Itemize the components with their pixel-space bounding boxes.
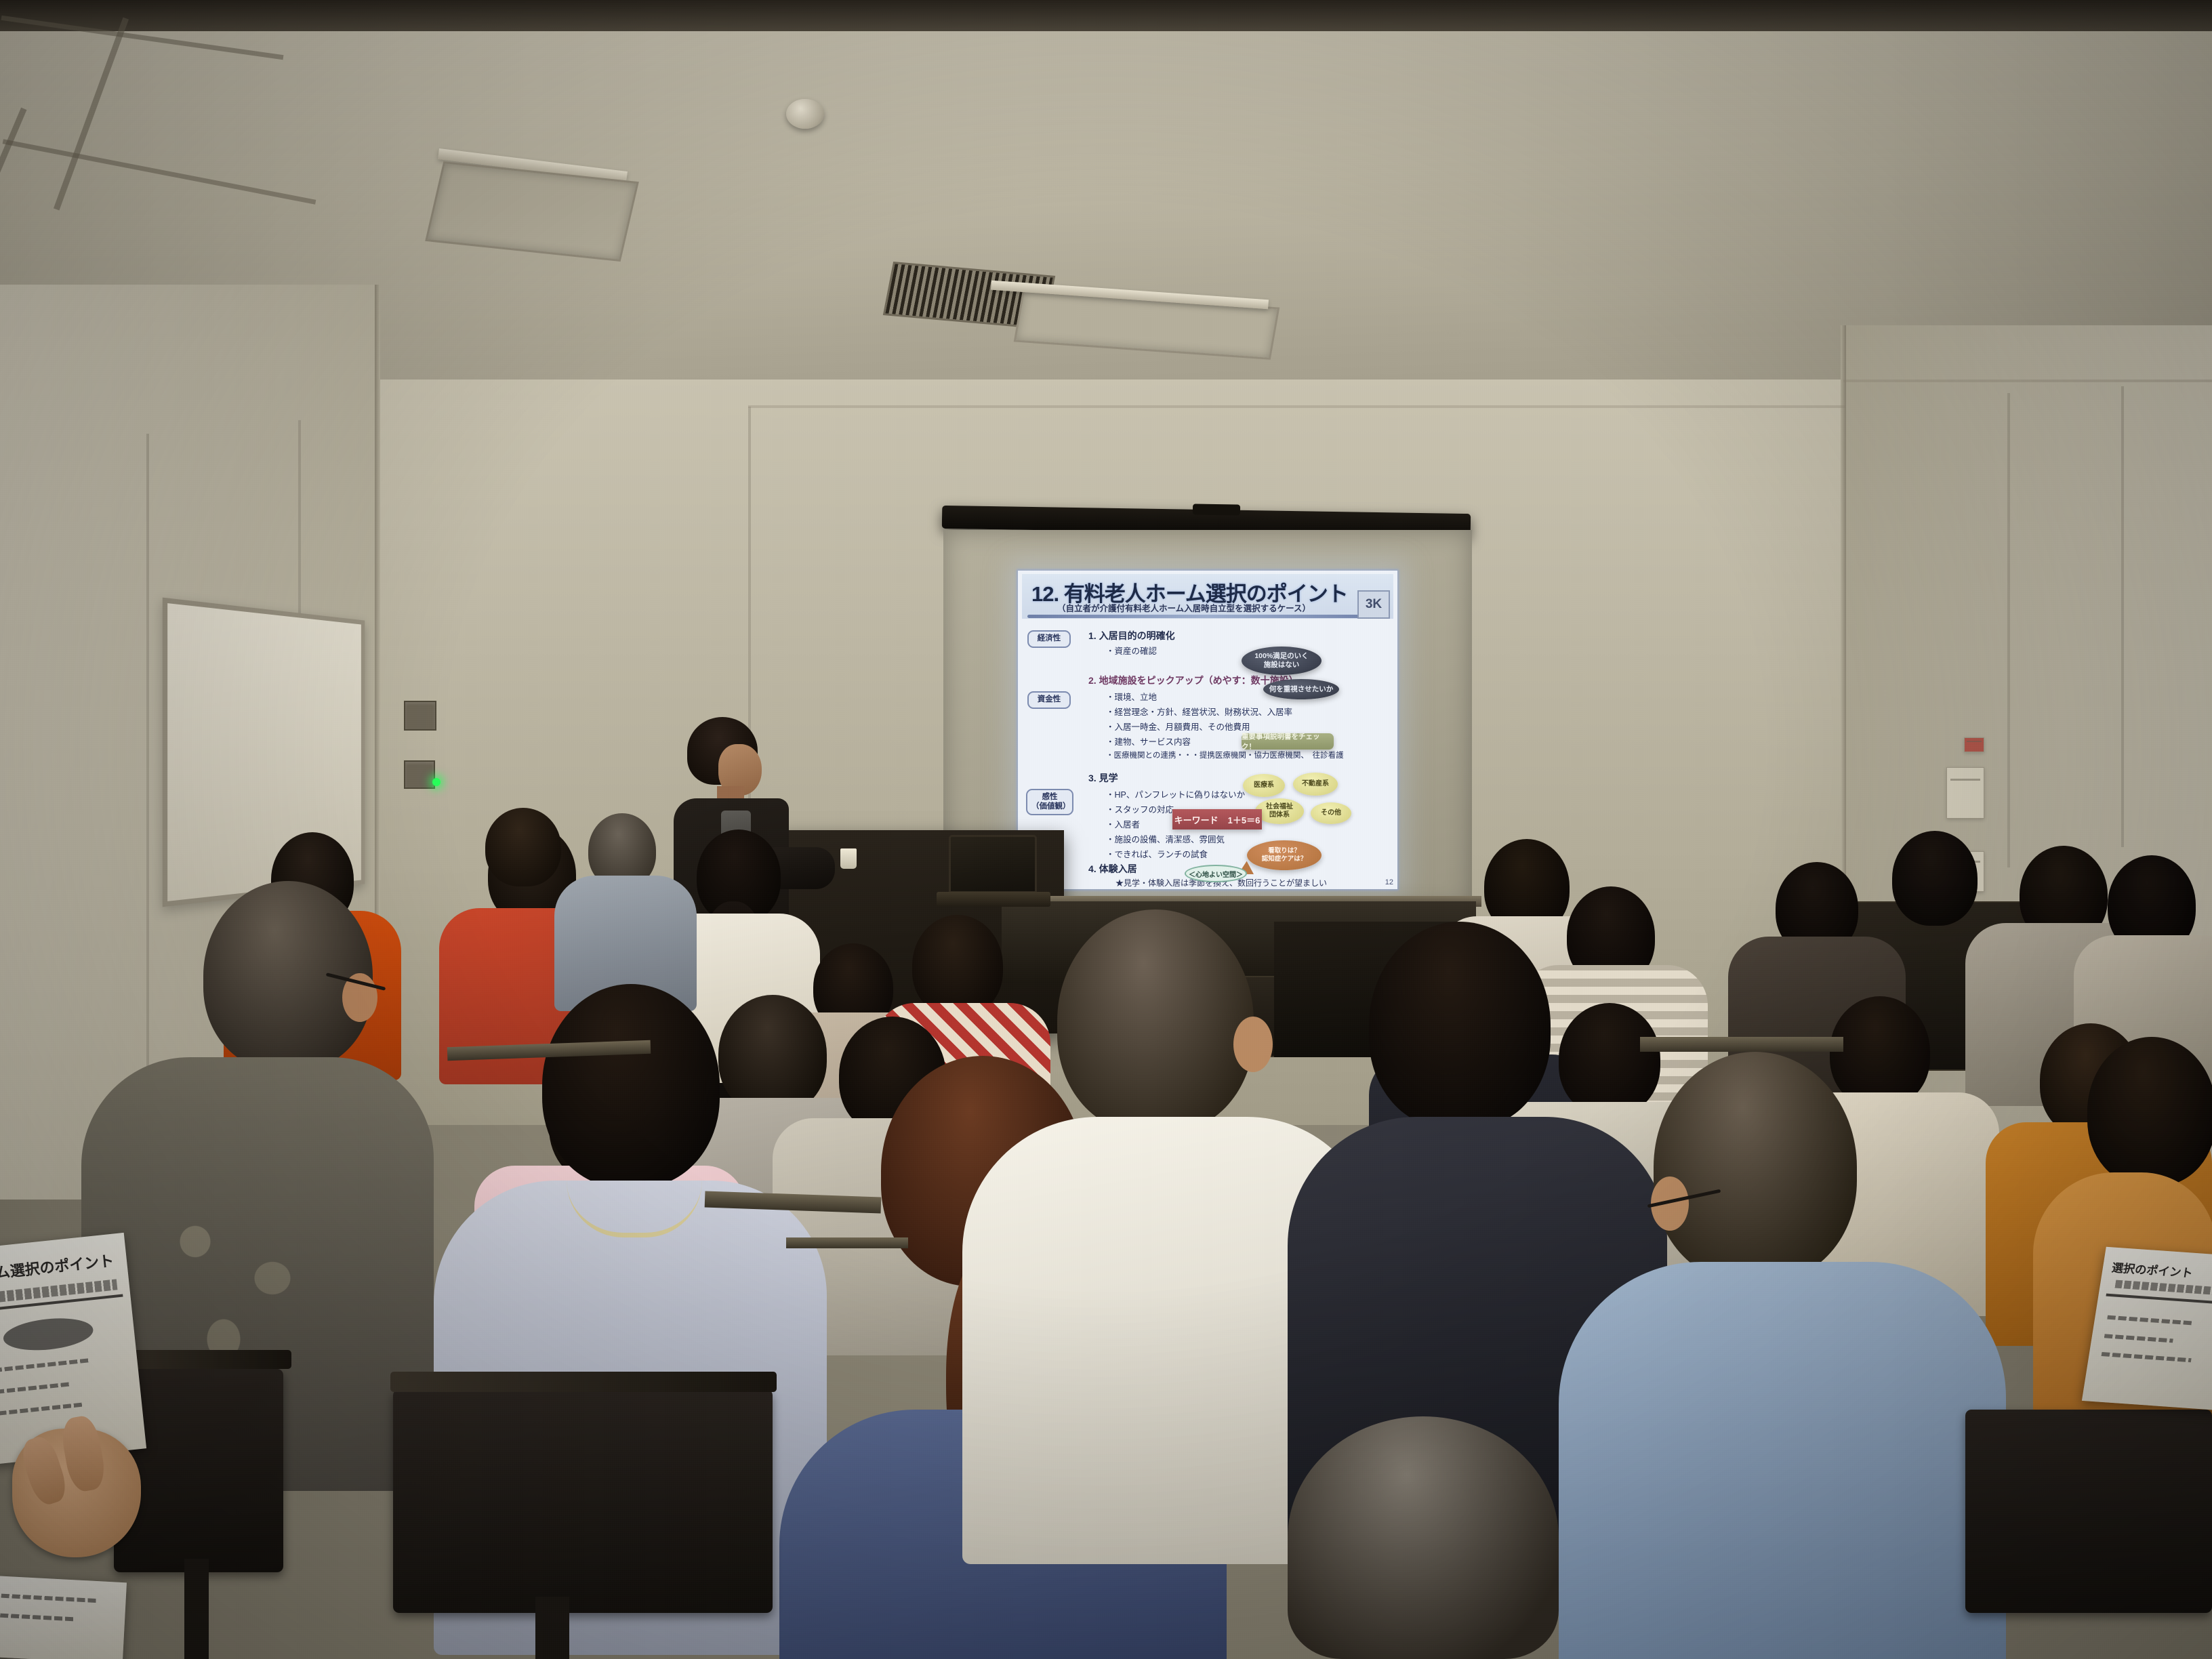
chair-backrest — [393, 1389, 773, 1613]
slide-side-label-sensibility: 感性（価値観） — [1026, 789, 1073, 815]
keyword-label: キーワード — [1174, 813, 1218, 826]
audience-head — [1559, 1003, 1660, 1115]
slide-callout-yellow-2: 不動産系 — [1293, 773, 1338, 796]
slide-subtitle: （自立者が介護付有料老人ホーム入居時自立型を選択するケース） — [1057, 601, 1311, 614]
audience-head — [485, 808, 561, 886]
slide-item-3-bullet: ・できれば、ランチの試食 — [1106, 847, 1208, 860]
slide-header: 12. 有料老人ホーム選択のポイント （自立者が介護付有料老人ホーム入居時自立型… — [1022, 574, 1393, 619]
wall-horizontal-seam — [748, 405, 1846, 408]
slide-callout-keyword-box: キーワード 1＋5＝6 — [1172, 809, 1262, 829]
audience-torso — [1559, 1262, 2006, 1659]
slide-page-number: 12 — [1385, 878, 1393, 886]
slide-item-3-bullet: ・入居者 — [1106, 817, 1140, 830]
wall-horizontal-seam — [1843, 380, 2212, 382]
slide-header-rule — [1027, 615, 1388, 618]
handout-paper[interactable] — [0, 1576, 127, 1659]
chair-armrest — [115, 1350, 291, 1369]
chair-post — [184, 1559, 209, 1659]
chair-backrest — [1965, 1410, 2212, 1613]
slide-item-4-heading: 4. 体験入居 — [1088, 862, 1137, 876]
handout-text-line — [1, 1594, 96, 1603]
smoke-detector-icon — [786, 99, 824, 129]
slide-item-3-bullet: ・施設の設備、清潔感、雰囲気 — [1106, 832, 1225, 845]
desk-edge — [786, 1237, 908, 1248]
audience-head — [718, 995, 827, 1114]
slide-item-3-bullet: ・HP、パンフレットに偽りはないか — [1106, 787, 1245, 800]
handout-rule — [2106, 1294, 2212, 1306]
audience-head — [542, 984, 720, 1187]
laptop-keyboard — [937, 892, 1050, 907]
slide-item-2-bullet: ・入居一時金、月額費用、その他費用 — [1106, 720, 1250, 733]
slide-item-3-bullet: ・スタッフの対応 — [1106, 802, 1174, 815]
audience-ear — [1233, 1017, 1273, 1072]
audience-head — [1288, 1416, 1559, 1659]
wall-panel-seam — [2121, 386, 2124, 847]
slide-callout-yellow-4: その他 — [1311, 802, 1351, 824]
slide-callout-yellow-3: 社会福祉団体系 — [1255, 798, 1304, 824]
handout-text-line — [0, 1382, 71, 1394]
slide-side-label-funding: 資金性 — [1027, 691, 1071, 709]
audience-head — [1892, 831, 1978, 926]
audience-head — [1369, 922, 1551, 1129]
slide-callout-dark-2: 何を重視させたいか — [1263, 679, 1339, 699]
slide-callout-dark-1: 100%満足のいく 施設はない — [1242, 647, 1322, 675]
handout-text-line — [2101, 1352, 2191, 1362]
slide-item-2-bullet: ・環境、立地 — [1106, 690, 1157, 703]
audience-head — [1654, 1052, 1857, 1282]
slide-logo-badge: 3K — [1357, 590, 1390, 619]
projection-screen-roller-knob — [1193, 504, 1240, 515]
audience-head — [203, 881, 373, 1071]
laptop-screen — [949, 835, 1037, 893]
slide-item-3-heading: 3. 見学 — [1088, 771, 1118, 785]
handout-text-line — [0, 1614, 73, 1622]
slide-callout-orange-bubble: 看取りは？ 認知症ケアは？ — [1247, 840, 1322, 870]
drinking-cup — [840, 848, 857, 869]
handout-text-line — [2104, 1334, 2173, 1343]
wall-panel-seam — [2007, 393, 2010, 867]
keyword-formula: 1＋5＝6 — [1228, 813, 1261, 826]
slide-callout-yellow-1: 医療系 — [1243, 774, 1285, 797]
wall-panel-seam — [146, 434, 149, 1111]
handout-graphic — [2, 1315, 95, 1354]
chair-armrest — [390, 1372, 777, 1392]
wall-control-panel — [404, 701, 436, 731]
wall-control-panel — [404, 760, 435, 789]
slide-item-2-bullet: ・経営理念・方針、経営状況、財務状況、入居率 — [1106, 705, 1292, 718]
chair-post — [535, 1597, 569, 1659]
handout-text-line — [0, 1358, 90, 1372]
audience-head — [2087, 1037, 2212, 1186]
handout-text-line — [2107, 1315, 2194, 1326]
slide-item-1-bullet: ・資産の確認 — [1106, 644, 1157, 657]
slide-callout-mint-ellipse: ＜心地よい空間＞ — [1185, 865, 1247, 882]
notice-poster — [1964, 737, 1984, 752]
ceiling-shadow-band — [0, 0, 2212, 31]
slide-item-1-heading: 1. 入居目的の明確化 — [1088, 629, 1175, 642]
seminar-room-photo: 12. 有料老人ホーム選択のポイント （自立者が介護付有料老人ホーム入居時自立型… — [0, 0, 2212, 1659]
audience-head — [1830, 996, 1930, 1107]
slide-item-2-bullet: ・建物、サービス内容 — [1106, 735, 1191, 747]
audience-head — [1057, 909, 1254, 1133]
desk-edge — [1640, 1037, 1843, 1052]
power-indicator-led — [432, 778, 441, 786]
notice-poster — [1946, 767, 1984, 819]
projected-slide: 12. 有料老人ホーム選択のポイント （自立者が介護付有料老人ホーム入居時自立型… — [1018, 571, 1397, 889]
audience-head — [912, 915, 1003, 1017]
slide-callout-green-box: 重要事項説明書をチェック！ — [1242, 733, 1334, 750]
handout-text-line — [0, 1403, 84, 1416]
slide-side-label-economy: 経済性 — [1027, 630, 1071, 648]
